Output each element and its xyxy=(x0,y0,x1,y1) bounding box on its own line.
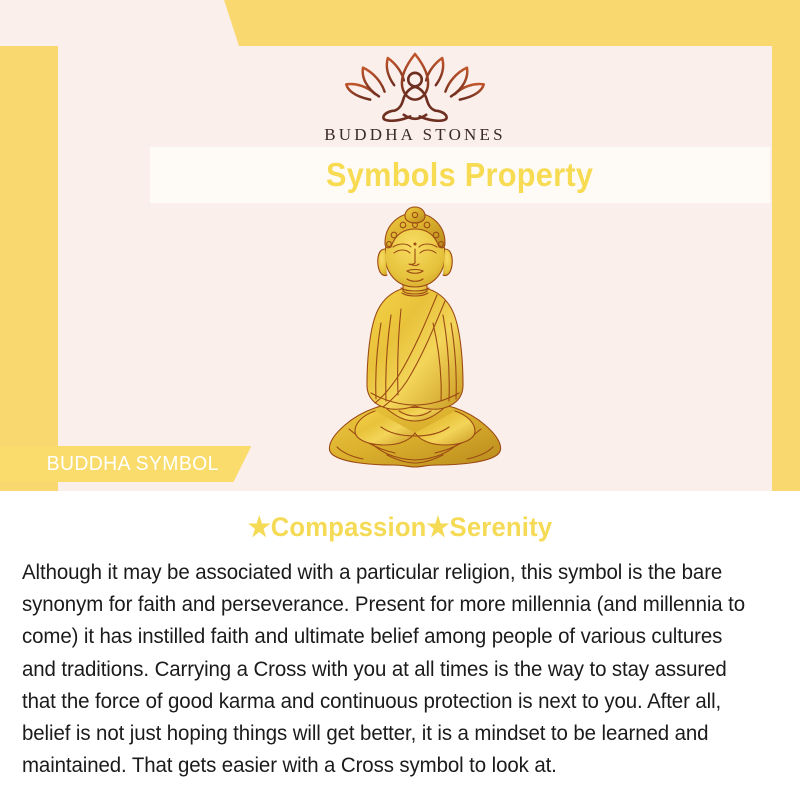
brand-logo: BUDDHA STONES xyxy=(58,46,772,146)
subtitle-word-compassion: Compassion xyxy=(271,512,427,542)
hero-image xyxy=(58,203,772,478)
star-icon-right: ★ xyxy=(427,512,450,542)
badge-label: BUDDHA SYMBOL xyxy=(47,453,219,476)
star-icon-left: ★ xyxy=(248,512,271,542)
content-subtitle: ★Compassion★Serenity xyxy=(41,512,759,543)
subtitle-word-serenity: Serenity xyxy=(450,512,553,542)
frame-decoration-top xyxy=(0,0,800,46)
golden-buddha-statue-icon xyxy=(315,203,515,478)
buddha-symbol-badge: BUDDHA SYMBOL xyxy=(0,446,251,482)
content-panel: ★Compassion★Serenity Although it may be … xyxy=(0,491,800,800)
content-body: Although it may be associated with a par… xyxy=(22,557,752,782)
brand-name: BUDDHA STONES xyxy=(324,125,506,145)
page-canvas: BUDDHA STONES Symbols Property xyxy=(58,46,772,764)
page-title: Symbols Property xyxy=(326,156,593,194)
page-title-band: Symbols Property xyxy=(150,147,770,203)
lotus-meditation-icon xyxy=(335,50,495,122)
